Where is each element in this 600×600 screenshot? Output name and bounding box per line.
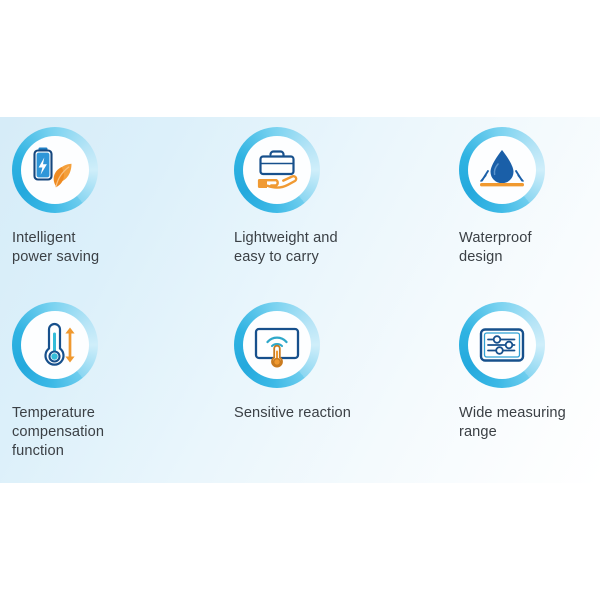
thermometer-arrow-icon <box>25 315 85 375</box>
feature-label: Sensitive reaction <box>234 404 439 423</box>
feature-label: Lightweight and easy to carry <box>234 229 439 267</box>
feature-item-sensitive-reaction[interactable]: Sensitive reaction <box>234 302 439 423</box>
feature-item-temperature-compensation-function[interactable]: Temperature compensation function <box>12 302 217 461</box>
feature-label: Waterproof design <box>459 229 600 267</box>
icon-ring <box>234 302 320 388</box>
feature-label: Intelligent power saving <box>12 229 217 267</box>
feature-item-waterproof-design[interactable]: Waterproof design <box>459 127 600 267</box>
feature-label: Temperature compensation function <box>12 404 217 461</box>
feature-item-wide-measuring-range[interactable]: Wide measuring range <box>459 302 600 442</box>
sliders-panel-icon <box>472 315 532 375</box>
icon-ring <box>12 127 98 213</box>
screen-thermometer-signal-icon <box>247 315 307 375</box>
briefcase-hand-icon <box>247 140 307 200</box>
icon-ring <box>459 127 545 213</box>
battery-leaf-icon <box>25 140 85 200</box>
icon-ring <box>459 302 545 388</box>
feature-grid: Intelligent power saving Lightweight and… <box>0 117 600 483</box>
feature-label: Wide measuring range <box>459 404 600 442</box>
icon-ring <box>12 302 98 388</box>
water-drop-splash-icon <box>472 140 532 200</box>
icon-ring <box>234 127 320 213</box>
feature-item-lightweight-easy-to-carry[interactable]: Lightweight and easy to carry <box>234 127 439 267</box>
feature-highlights-panel: Intelligent power saving Lightweight and… <box>0 117 600 483</box>
feature-item-intelligent-power-saving[interactable]: Intelligent power saving <box>12 127 217 267</box>
